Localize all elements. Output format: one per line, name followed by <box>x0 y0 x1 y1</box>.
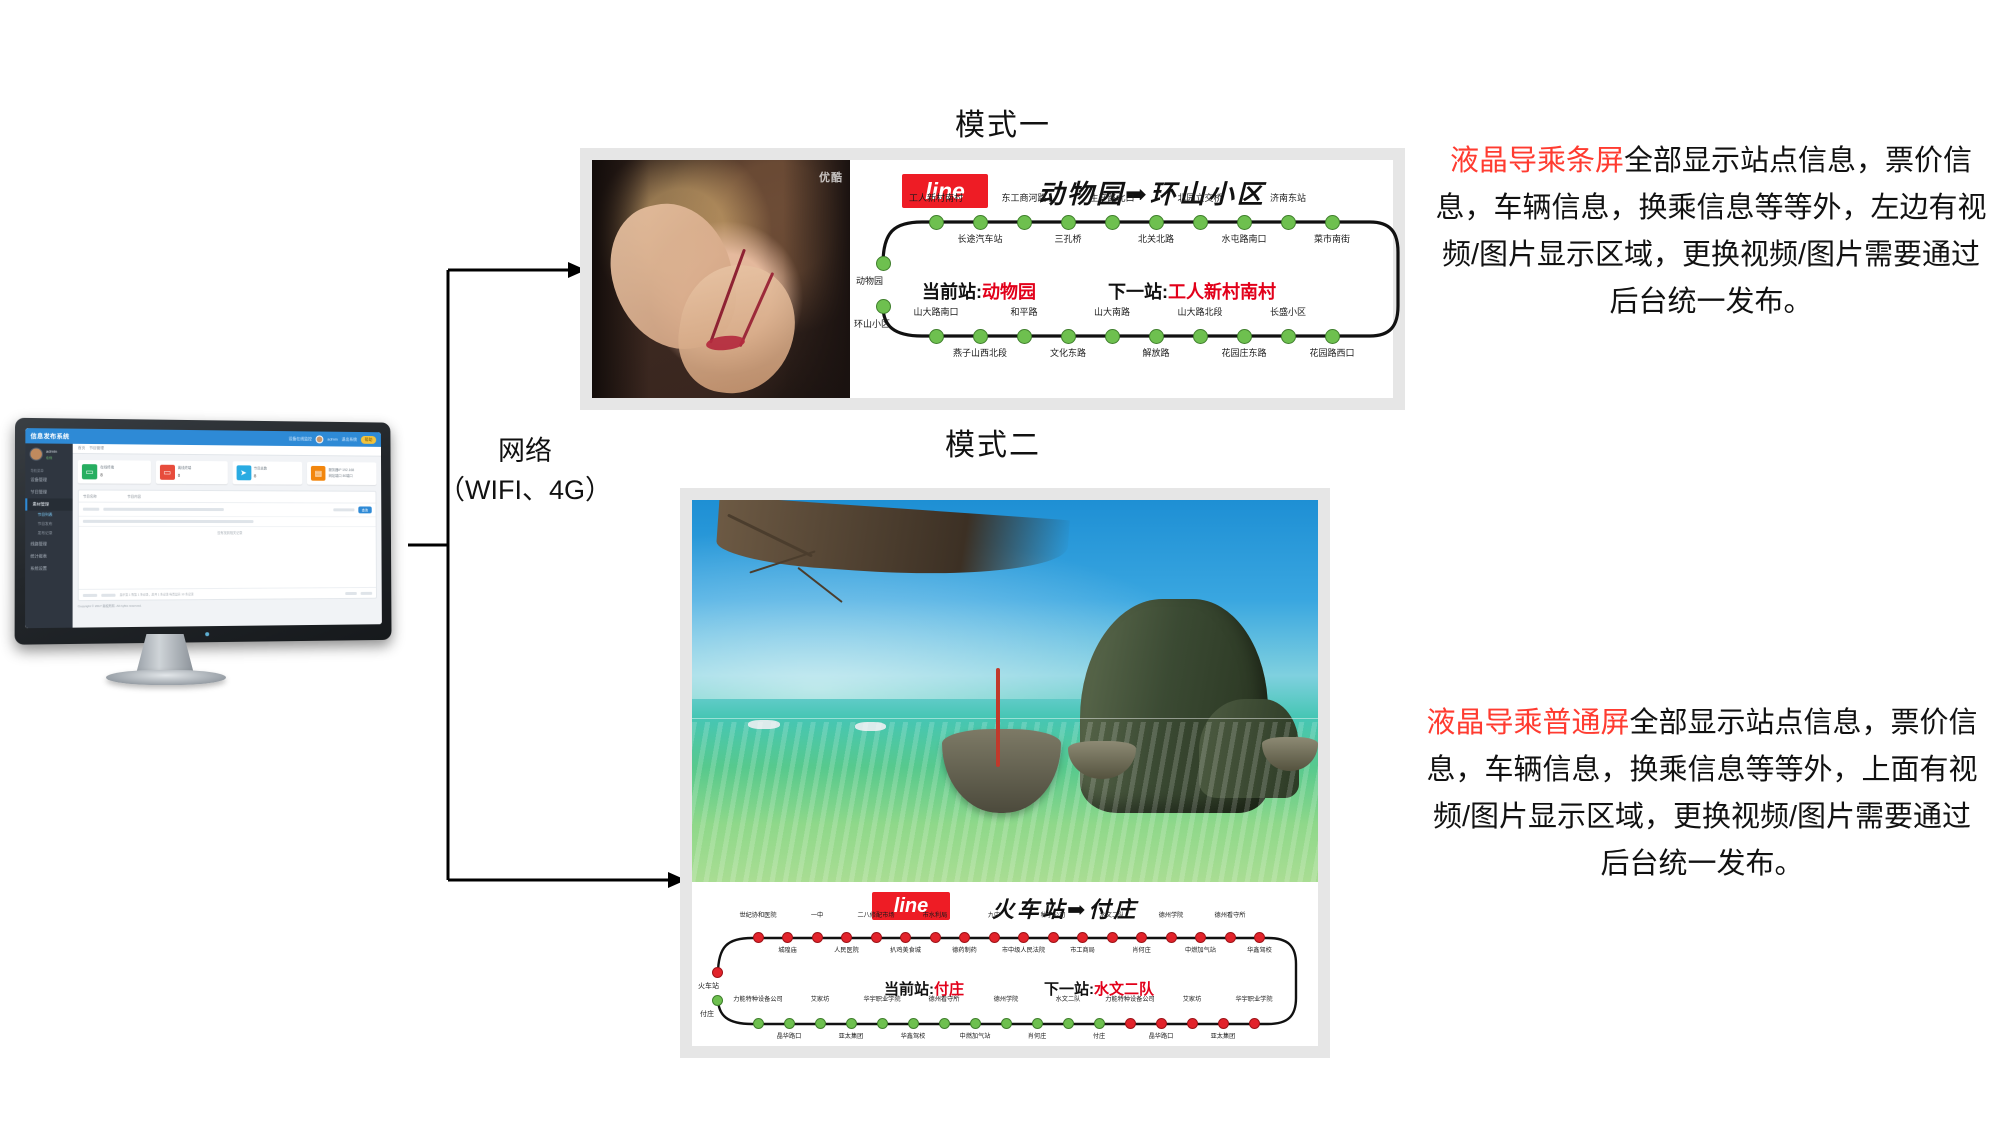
mode2-top-label-3: 人民医院 <box>834 947 859 954</box>
mode2-top-label-10: 种子公司 <box>1041 912 1066 919</box>
dashboard-sidebar: admin 在线 导航菜单 设备管理 节目管理 素材管理 节目列表 节目发布 发… <box>25 443 73 628</box>
mode1-top-dot-6 <box>1193 215 1208 230</box>
sidebar-item-2-label: 素材管理 <box>32 501 49 507</box>
power-led-icon <box>205 632 209 636</box>
mode2-top-label-0: 世纪协和医院 <box>739 912 776 919</box>
panel-header: 节目名称 节目内容 <box>79 490 376 503</box>
mode1-top-dot-9 <box>1325 215 1340 230</box>
mode2-top-dot-15 <box>1195 932 1206 943</box>
avatar[interactable] <box>316 435 324 443</box>
mode1-terminus-end-dot <box>876 299 891 314</box>
row-ghost-c <box>333 508 354 511</box>
mode2-bottom-label-5: 华鑫驾校 <box>901 1033 926 1040</box>
mode2-bottom-dot-13 <box>1156 1018 1167 1029</box>
mode1-terminus-start-label: 动物园 <box>856 274 883 287</box>
mode2-bottom-dot-15 <box>1218 1018 1229 1029</box>
mode1-top-dot-3 <box>1061 215 1076 230</box>
topbar-logout[interactable]: 退出系统 <box>342 436 357 442</box>
copyright-text: Copyright © 2017 版权所有. All rights reserv… <box>78 604 142 609</box>
mode2-top-dot-17 <box>1254 932 1265 943</box>
sidebar-item-4-label: 统计报表 <box>30 553 47 559</box>
mode1-bottom-label-4: 山大南路 <box>1094 307 1130 317</box>
mode1-top-label-0: 工人新村南村 <box>909 193 963 203</box>
mode2-top-label-12: 水文二队 <box>1100 912 1125 919</box>
mode2-top-label-13: 肖何庄 <box>1132 947 1151 954</box>
mode1-top-dot-1 <box>973 215 988 230</box>
monitor-screen: 信息发布系统 设备在线监控 admin 退出系统 帮助 admin <box>25 428 382 628</box>
mode2-bottom-dot-6 <box>939 1018 950 1029</box>
mode1-top-dot-2 <box>1017 215 1032 230</box>
mode2-top-label-11: 市工商局 <box>1070 947 1095 954</box>
screen-icon: ▭ <box>160 465 175 480</box>
mode1-top-dot-4 <box>1105 215 1120 230</box>
mode2-bottom-dot-16 <box>1249 1018 1260 1029</box>
mode2-top-label-2: 一中 <box>811 912 823 919</box>
sidebar-item-5[interactable]: 系统设置 <box>25 563 73 575</box>
mode2-title: 模式二 <box>945 420 1041 464</box>
mode2-bottom-label-15: 亚太集团 <box>1211 1033 1236 1040</box>
monitor-icon: ▭ <box>82 464 97 479</box>
mode1-top-label-9: 菜市南街 <box>1314 234 1350 244</box>
mode1-bottom-label-8: 长盛小区 <box>1270 307 1306 317</box>
mode2-bottom-label-3: 亚太集团 <box>839 1033 864 1040</box>
mode1-top-label-7: 水屯路南口 <box>1221 234 1266 244</box>
mode2-top-label-17: 华鑫驾校 <box>1247 947 1272 954</box>
mode2-top-dot-10 <box>1048 932 1059 943</box>
mode2-bottom-dot-5 <box>908 1018 919 1029</box>
mode1-bottom-dot-0 <box>929 329 944 344</box>
mode1-top-dot-7 <box>1237 215 1252 230</box>
mode2-top-dot-5 <box>900 932 911 943</box>
mode2-description-keyword: 液晶导乘普通屏 <box>1426 707 1629 739</box>
mode1-bottom-dot-5 <box>1149 329 1164 344</box>
mode2-bottom-label-8: 德州学院 <box>994 996 1019 1003</box>
mode2-screen-frame: line 火车站➡付庄 当前站:付庄 下一站:水文二队 火车站 付庄 世纪协和医… <box>680 488 1330 1058</box>
mode2-top-label-9: 市中级人民法院 <box>1002 947 1045 954</box>
mode1-top-label-1: 长途汽车站 <box>957 234 1002 244</box>
mode2-bottom-label-2: 艾家坊 <box>811 996 830 1003</box>
mode2-terminus-end-dot <box>712 995 723 1006</box>
sidebar-item-5-label: 系统设置 <box>30 566 47 572</box>
mode2-bottom-label-11: 付庄 <box>1093 1033 1105 1040</box>
footer-btn-new[interactable] <box>83 593 97 596</box>
mode2-bottom-dot-8 <box>1001 1018 1012 1029</box>
mode2-top-label-14: 德州学院 <box>1159 912 1184 919</box>
mode1-bottom-dot-2 <box>1017 329 1032 344</box>
mode1-bottom-label-2: 和平路 <box>1010 307 1037 317</box>
mode2-bottom-dot-2 <box>815 1018 826 1029</box>
mode2-route-pane: line 火车站➡付庄 当前站:付庄 下一站:水文二队 火车站 付庄 世纪协和医… <box>692 882 1318 1046</box>
panel-filter-row <box>79 517 376 527</box>
mode2-top-label-6: 市水利局 <box>923 912 948 919</box>
mode1-top-label-2: 东工商河路 <box>1001 193 1046 203</box>
mode2-top-dot-13 <box>1136 932 1147 943</box>
mode2-terminus-start-dot <box>712 967 723 978</box>
mode2-screen: line 火车站➡付庄 当前站:付庄 下一站:水文二队 火车站 付庄 世纪协和医… <box>692 500 1318 1046</box>
mode1-top-label-6: 北园立交桥 <box>1177 193 1222 203</box>
mode2-bottom-dot-14 <box>1187 1018 1198 1029</box>
mode2-top-label-15: 中燃加气站 <box>1185 947 1216 954</box>
video-frame <box>592 160 850 398</box>
network-label-line1: 网络 <box>400 432 650 471</box>
mode1-bottom-dot-8 <box>1281 329 1296 344</box>
card-icon: ▤ <box>311 466 326 481</box>
stat-tile-2-label: 节目总数 <box>254 467 267 471</box>
stat-tile-0-label: 在线终端 <box>100 465 114 469</box>
mode2-top-dot-8 <box>989 932 1000 943</box>
breadcrumb-current: 节目管理 <box>89 446 104 451</box>
mode1-top-dot-8 <box>1281 215 1296 230</box>
beach-horizon <box>692 718 1318 720</box>
sidebar-item-4[interactable]: 统计报表 <box>25 550 72 562</box>
mode2-top-dot-0 <box>753 932 764 943</box>
beach-boat-mast <box>996 668 1000 767</box>
mode2-top-dot-7 <box>959 932 970 943</box>
footer-info: 显示第 1 到第 1 条记录，总共 1 条记录 每页显示 10 条记录 <box>120 592 194 597</box>
mode1-top-dot-5 <box>1149 215 1164 230</box>
mode2-description: 液晶导乘普通屏全部显示站点信息，票价信息，车辆信息，换乘信息等等外，上面有视频/… <box>1424 700 1980 888</box>
topbar-monitor-link[interactable]: 设备在线监控 <box>289 436 312 442</box>
mode1-bottom-dot-6 <box>1193 329 1208 344</box>
mode1-bottom-dot-1 <box>973 329 988 344</box>
mode2-top-dot-1 <box>782 932 793 943</box>
mode2-bottom-label-4: 华宇职业学院 <box>863 996 900 1003</box>
mode2-top-label-1: 城隍庙 <box>778 947 797 954</box>
stat-tile-1-value: 0 <box>178 472 180 477</box>
topbar-user[interactable]: admin <box>327 437 338 442</box>
mode2-bottom-dot-1 <box>784 1018 795 1029</box>
mode1-bottom-dot-9 <box>1325 329 1340 344</box>
sidebar-item-1[interactable]: 节目管理 <box>25 486 72 498</box>
breadcrumb-home[interactable]: 首页 <box>78 446 85 451</box>
row-ghost-a <box>83 508 99 511</box>
mode1-screen-frame: 优酷 line 动物园➡环山小区 当前站:动物园 下一站:工人新村南村 动物园 … <box>580 148 1405 410</box>
mode2-top-label-16: 德州看守所 <box>1215 912 1246 919</box>
mode2-top-dot-16 <box>1225 932 1236 943</box>
mode2-top-label-8: 九中 <box>988 912 1000 919</box>
content-panel: 节目名称 节目内容 查询 没有找到相关记 <box>78 489 377 601</box>
pager-next[interactable] <box>361 591 373 594</box>
stat-tile-1[interactable]: ▭ 离线终端0 <box>156 461 228 484</box>
sidebar-item-0-label: 设备管理 <box>30 477 47 483</box>
mode1-top-label-5: 北关北路 <box>1138 234 1174 244</box>
pager-prev[interactable] <box>345 591 357 594</box>
app-brand: 信息发布系统 <box>31 431 70 441</box>
mode1-bottom-label-7: 花园庄东路 <box>1221 348 1266 358</box>
mode2-bottom-label-0: 力能特种设备公司 <box>733 996 783 1003</box>
stat-tile-0[interactable]: ▭ 在线终端8 <box>78 460 151 484</box>
mode2-bottom-label-9: 肖何庄 <box>1028 1033 1047 1040</box>
monitor-chin <box>15 624 392 645</box>
mode1-bottom-label-1: 燕子山西北段 <box>953 348 1007 358</box>
mode2-bottom-dot-12 <box>1125 1018 1136 1029</box>
mode1-bottom-label-9: 花园路西口 <box>1309 348 1354 358</box>
search-button[interactable]: 查询 <box>358 506 372 513</box>
sidebar-item-1-label: 节目管理 <box>30 489 47 495</box>
topbar-right: 设备在线监控 admin 退出系统 帮助 <box>289 435 377 444</box>
mode2-terminus-end-label: 付庄 <box>700 1009 714 1019</box>
stat-tile-3-label: 服务器IP 192.168 <box>329 468 355 472</box>
mode2-top-label-7: 德药制药 <box>952 947 977 954</box>
mode2-bottom-dot-7 <box>970 1018 981 1029</box>
admin-dashboard: 信息发布系统 设备在线监控 admin 退出系统 帮助 admin <box>25 428 382 628</box>
mode2-top-dot-12 <box>1107 932 1118 943</box>
mode1-route-pane: line 动物园➡环山小区 当前站:动物园 下一站:工人新村南村 动物园 环山小… <box>850 160 1393 398</box>
mode2-bottom-label-7: 中燃加气站 <box>960 1033 991 1040</box>
mode2-top-dot-11 <box>1077 932 1088 943</box>
stat-tile-2-value: 8 <box>254 473 256 478</box>
video-shade-right <box>783 160 850 398</box>
sidebar-item-2[interactable]: 素材管理 <box>25 498 72 510</box>
mode2-bottom-dot-11 <box>1094 1018 1105 1029</box>
mode1-top-label-4: 生产路北口 <box>1089 193 1134 203</box>
mode2-top-dot-9 <box>1018 932 1029 943</box>
sidebar-user-status: 在线 <box>46 456 52 460</box>
mode1-bottom-label-5: 解放路 <box>1142 348 1169 358</box>
mode2-top-dot-6 <box>930 932 941 943</box>
mode2-bottom-label-14: 艾家坊 <box>1183 996 1202 1003</box>
mode2-bottom-label-10: 水文二队 <box>1056 996 1081 1003</box>
mode2-top-dot-14 <box>1166 932 1177 943</box>
panel-empty-row: 没有找到相关记录 <box>79 527 376 538</box>
sidebar-user: admin 在线 <box>25 443 72 465</box>
mode1-top-label-3: 三孔桥 <box>1054 234 1081 244</box>
empty-text: 没有找到相关记录 <box>217 530 242 535</box>
sidebar-item-3-label: 线路管理 <box>30 541 47 547</box>
topbar-help-button[interactable]: 帮助 <box>361 435 376 443</box>
stat-tile-3-value: 网站端口 80端口 <box>329 473 353 477</box>
sidebar-item-3[interactable]: 线路管理 <box>25 538 72 550</box>
admin-workstation-monitor: 信息发布系统 设备在线监控 admin 退出系统 帮助 admin <box>18 420 408 675</box>
stat-tile-3[interactable]: ▤ 服务器IP 192.168网站端口 80端口 <box>307 462 376 485</box>
panel-col-2: 节目内容 <box>127 494 141 499</box>
mode2-bottom-dot-9 <box>1032 1018 1043 1029</box>
footer-btn-del[interactable] <box>101 593 115 596</box>
panel-footer: 显示第 1 到第 1 条记录，总共 1 条记录 每页显示 10 条记录 <box>79 587 376 600</box>
mode2-top-dot-3 <box>841 932 852 943</box>
row-ghost-b <box>103 508 224 511</box>
row-ghost-d <box>83 520 254 523</box>
stat-tile-0-value: 8 <box>100 472 102 477</box>
network-label: 网络 （WIFI、4G） <box>400 432 650 510</box>
panel-col-1: 节目名称 <box>83 493 97 498</box>
send-icon: ➤ <box>236 465 251 480</box>
monitor-bezel: 信息发布系统 设备在线监控 admin 退出系统 帮助 admin <box>15 418 392 645</box>
mode2-bottom-dot-0 <box>753 1018 764 1029</box>
mode2-top-dot-4 <box>871 932 882 943</box>
mode2-bottom-label-1: 晶华路口 <box>777 1033 802 1040</box>
mode2-bottom-dot-4 <box>877 1018 888 1029</box>
sidebar-subitem-2[interactable]: 发布记录 <box>25 529 72 538</box>
mode2-bottom-label-13: 晶华路口 <box>1149 1033 1174 1040</box>
youku-watermark-icon: 优酷 <box>819 169 843 185</box>
mode2-media-pane[interactable] <box>692 500 1318 882</box>
mode1-bottom-label-6: 山大路北段 <box>1177 307 1222 317</box>
mode1-terminus-end-label: 环山小区 <box>854 317 890 330</box>
mode2-top-label-4: 二八修配市场 <box>857 912 894 919</box>
mode1-media-pane[interactable]: 优酷 <box>592 160 850 398</box>
mode2-terminus-start-label: 火车站 <box>698 981 719 991</box>
stat-tile-1-label: 离线终端 <box>178 466 192 470</box>
mode1-bottom-dot-4 <box>1105 329 1120 344</box>
mode2-top-label-5: 扒鸡美食城 <box>890 947 921 954</box>
mode2-bottom-label-16: 华宇职业学院 <box>1235 996 1272 1003</box>
mode1-bottom-label-3: 文化东路 <box>1050 348 1086 358</box>
mode2-bottom-label-6: 德州看守所 <box>929 996 960 1003</box>
mode2-bottom-label-12: 力能特种设备公司 <box>1105 996 1155 1003</box>
sidebar-subitem-1[interactable]: 节目发布 <box>25 520 72 529</box>
stat-tiles: ▭ 在线终端8 ▭ 离线终端0 ➤ 节目总数8 ▤ <box>73 454 382 491</box>
network-label-line2: （WIFI、4G） <box>400 471 650 510</box>
dashboard-main: 首页 节目管理 ▭ 在线终端8 ▭ 离线终端0 ➤ <box>73 444 382 628</box>
sidebar-subitem-0[interactable]: 节目列表 <box>25 511 72 520</box>
mode1-bottom-dot-7 <box>1237 329 1252 344</box>
mode1-title: 模式一 <box>955 100 1051 144</box>
sidebar-user-name: admin <box>46 449 57 454</box>
sidebar-section-label: 导航菜单 <box>25 465 72 474</box>
mode1-terminus-start-dot <box>876 256 891 271</box>
sidebar-avatar <box>29 447 42 460</box>
mode1-top-label-8: 济南东站 <box>1270 193 1306 203</box>
mode1-bottom-label-0: 山大路南口 <box>913 307 958 317</box>
mode1-bottom-dot-3 <box>1061 329 1076 344</box>
mode1-description-keyword: 液晶导乘条屏 <box>1450 145 1624 177</box>
mode2-bottom-dot-10 <box>1063 1018 1074 1029</box>
monitor-stand-base <box>106 670 226 685</box>
stat-tile-2[interactable]: ➤ 节目总数8 <box>232 461 302 484</box>
mode1-screen: 优酷 line 动物园➡环山小区 当前站:动物园 下一站:工人新村南村 动物园 … <box>592 160 1393 398</box>
sidebar-item-0[interactable]: 设备管理 <box>25 474 72 486</box>
mode1-top-dot-0 <box>929 215 944 230</box>
mode1-description: 液晶导乘条屏全部显示站点信息，票价信息，车辆信息，换乘信息等等外，左边有视频/图… <box>1432 138 1990 326</box>
panel-toolbar-row: 查询 <box>79 503 376 518</box>
mode2-bottom-dot-3 <box>846 1018 857 1029</box>
mode2-top-dot-2 <box>812 932 823 943</box>
